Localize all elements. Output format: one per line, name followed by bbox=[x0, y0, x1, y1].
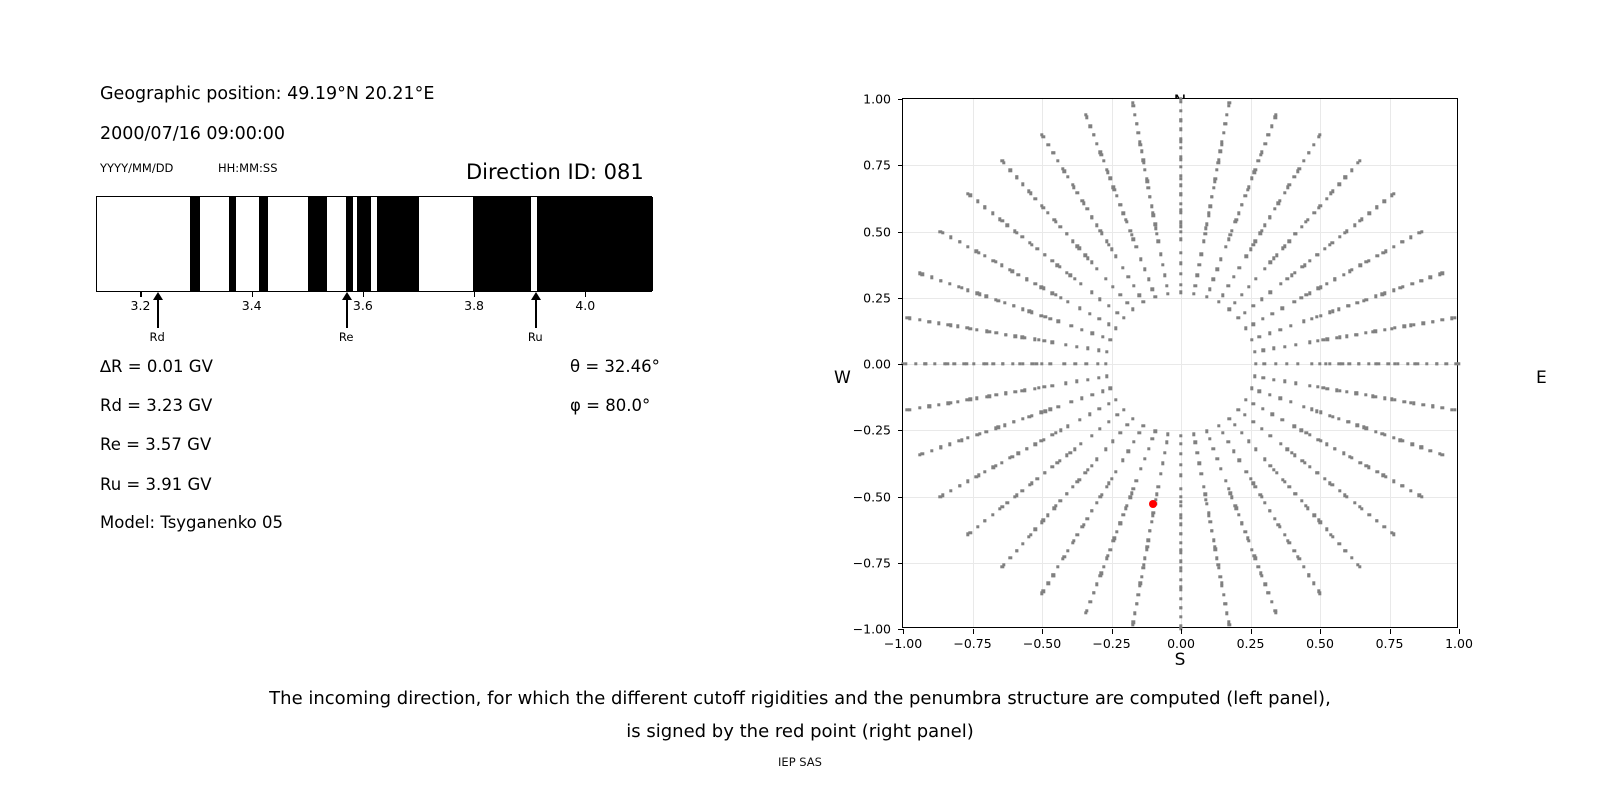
direction-point bbox=[1306, 506, 1309, 509]
direction-point bbox=[1333, 447, 1336, 450]
direction-point bbox=[1042, 438, 1045, 441]
direction-point bbox=[1013, 229, 1016, 232]
direction-point bbox=[948, 282, 951, 285]
direction-point bbox=[1302, 159, 1305, 162]
direction-point bbox=[1105, 557, 1108, 560]
direction-point bbox=[1308, 259, 1311, 262]
direction-point bbox=[1034, 442, 1037, 445]
direction-point bbox=[1104, 277, 1107, 280]
direction-point bbox=[1069, 451, 1072, 454]
direction-point bbox=[1268, 393, 1271, 396]
penumbra-tick-label: 3.6 bbox=[353, 298, 373, 313]
direction-point bbox=[1247, 285, 1250, 288]
direction-point bbox=[1263, 458, 1266, 461]
direction-point bbox=[1143, 268, 1146, 271]
direction-point bbox=[1350, 268, 1353, 271]
direction-point bbox=[1202, 485, 1205, 488]
arrow-shaft bbox=[157, 298, 158, 328]
direction-point bbox=[1345, 229, 1348, 232]
direction-point bbox=[1401, 484, 1404, 487]
direction-point bbox=[1350, 168, 1353, 171]
selected-direction-marker[interactable] bbox=[1149, 500, 1157, 508]
caption-line-1: The incoming direction, for which the di… bbox=[0, 682, 1600, 715]
direction-point bbox=[1015, 176, 1018, 179]
direction-point bbox=[962, 362, 965, 365]
direction-point bbox=[1331, 535, 1334, 538]
direction-point bbox=[1081, 525, 1084, 528]
x-axis-tick bbox=[1320, 629, 1321, 634]
direction-point bbox=[1376, 470, 1379, 473]
direction-point bbox=[1179, 452, 1182, 455]
direction-point bbox=[1179, 532, 1182, 535]
direction-point bbox=[1179, 193, 1182, 196]
direction-point bbox=[1066, 300, 1069, 303]
direction-point bbox=[1179, 569, 1182, 572]
direction-point bbox=[1273, 517, 1276, 520]
direction-point bbox=[1237, 212, 1240, 215]
direction-point bbox=[1317, 438, 1320, 441]
direction-point bbox=[1179, 146, 1182, 149]
direction-point bbox=[1058, 459, 1061, 462]
direction-point bbox=[985, 395, 988, 398]
direction-point bbox=[1261, 376, 1264, 379]
param-delta-r: ∆R = 0.01 GV bbox=[100, 357, 213, 376]
direction-point bbox=[1088, 600, 1091, 603]
direction-point bbox=[1014, 334, 1017, 337]
direction-point bbox=[1279, 442, 1282, 445]
direction-point bbox=[1383, 328, 1386, 331]
direction-point bbox=[1042, 385, 1045, 388]
direction-point bbox=[1326, 387, 1329, 390]
penumbra-tick bbox=[140, 292, 141, 297]
direction-point bbox=[1086, 347, 1089, 350]
direction-point bbox=[1147, 538, 1150, 541]
direction-point bbox=[1227, 621, 1230, 624]
direction-point bbox=[1268, 331, 1271, 334]
penumbra-tick bbox=[585, 292, 586, 297]
direction-point bbox=[1252, 323, 1255, 326]
direction-point bbox=[1042, 135, 1045, 138]
direction-point bbox=[1368, 513, 1371, 516]
direction-point bbox=[1224, 245, 1227, 248]
direction-point bbox=[924, 362, 927, 365]
direction-point bbox=[1049, 408, 1052, 411]
direction-point bbox=[1135, 245, 1138, 248]
direction-point bbox=[1133, 612, 1136, 615]
param-ru: Ru = 3.91 GV bbox=[100, 475, 212, 494]
direction-point bbox=[1392, 288, 1395, 291]
direction-point bbox=[1328, 362, 1331, 365]
direction-point bbox=[1384, 250, 1387, 253]
direction-point bbox=[966, 480, 969, 483]
direction-point bbox=[1179, 262, 1182, 265]
direction-point bbox=[1179, 606, 1182, 609]
direction-point bbox=[1232, 450, 1235, 453]
direction-point bbox=[1346, 420, 1349, 423]
direction-point bbox=[1126, 423, 1129, 426]
direction-point bbox=[1002, 563, 1005, 566]
direction-point bbox=[1157, 485, 1160, 488]
direction-point bbox=[1356, 301, 1359, 304]
direction-point bbox=[994, 298, 997, 301]
direction-point bbox=[1132, 440, 1135, 443]
direction-point bbox=[1046, 211, 1049, 214]
direction-point bbox=[1085, 609, 1088, 612]
y-axis-tick-label: −1.00 bbox=[853, 622, 891, 637]
direction-point bbox=[1431, 405, 1434, 408]
direction-point bbox=[1418, 231, 1421, 234]
direction-point bbox=[1051, 341, 1054, 344]
direction-point bbox=[1275, 254, 1278, 257]
x-axis-tick-label: −1.00 bbox=[884, 636, 922, 651]
direction-point bbox=[1008, 456, 1011, 459]
direction-point bbox=[957, 285, 960, 288]
figure-caption: The incoming direction, for which the di… bbox=[0, 682, 1600, 748]
direction-point bbox=[1090, 215, 1093, 218]
direction-point bbox=[1070, 324, 1073, 327]
direction-point bbox=[1338, 489, 1341, 492]
direction-point bbox=[1410, 282, 1413, 285]
direction-point bbox=[1004, 333, 1007, 336]
direction-point bbox=[1374, 295, 1377, 298]
direction-point bbox=[1102, 159, 1105, 162]
direction-point bbox=[1054, 293, 1057, 296]
direction-point bbox=[930, 276, 933, 279]
direction-point bbox=[1219, 467, 1222, 470]
direction-point bbox=[1441, 318, 1444, 321]
direction-point bbox=[1179, 578, 1182, 581]
direction-point bbox=[1269, 291, 1272, 294]
direction-point bbox=[1179, 495, 1182, 498]
direction-point bbox=[1279, 397, 1282, 400]
direction-point bbox=[1402, 400, 1405, 403]
direction-point bbox=[1215, 557, 1218, 560]
direction-point bbox=[1337, 417, 1340, 420]
direction-point bbox=[1285, 362, 1288, 365]
direction-point bbox=[1315, 409, 1318, 412]
direction-point bbox=[1293, 453, 1296, 456]
direction-point bbox=[1224, 122, 1227, 125]
y-axis-tick bbox=[898, 430, 903, 431]
direction-point bbox=[1247, 185, 1250, 188]
direction-point bbox=[1355, 333, 1358, 336]
direction-point bbox=[1390, 194, 1393, 197]
direction-point bbox=[1338, 362, 1341, 365]
direction-point bbox=[1075, 380, 1078, 383]
direction-point bbox=[1263, 223, 1266, 226]
direction-point bbox=[1269, 434, 1272, 437]
direction-point bbox=[966, 245, 969, 248]
direction-point bbox=[1061, 557, 1064, 560]
penumbra-band bbox=[190, 197, 200, 291]
direction-point bbox=[992, 259, 995, 262]
direction-point bbox=[1073, 277, 1076, 280]
direction-point bbox=[1279, 282, 1282, 285]
direction-point bbox=[1107, 323, 1110, 326]
direction-point bbox=[1208, 437, 1211, 440]
direction-point bbox=[1104, 448, 1107, 451]
direction-point bbox=[1326, 338, 1329, 341]
direction-point bbox=[994, 427, 997, 430]
direction-point bbox=[1375, 206, 1378, 209]
direction-point bbox=[1128, 229, 1131, 232]
direction-point bbox=[1050, 259, 1053, 262]
direction-point bbox=[1112, 539, 1115, 542]
direction-point bbox=[1233, 301, 1236, 304]
direction-point bbox=[1355, 392, 1358, 395]
direction-point bbox=[1133, 113, 1136, 116]
direction-point bbox=[1215, 168, 1218, 171]
direction-point bbox=[1179, 156, 1182, 159]
direction-point bbox=[1108, 548, 1111, 551]
direction-point bbox=[1112, 185, 1115, 188]
y-axis-tick-label: 1.00 bbox=[863, 92, 891, 107]
direction-point bbox=[1105, 350, 1108, 353]
direction-point bbox=[1071, 239, 1074, 242]
direction-point bbox=[1021, 235, 1024, 238]
direction-point bbox=[991, 513, 994, 516]
direction-point bbox=[1031, 362, 1034, 365]
direction-point bbox=[1202, 240, 1205, 243]
direction-point bbox=[1310, 408, 1313, 411]
direction-point bbox=[1214, 548, 1217, 551]
direction-point bbox=[1310, 317, 1313, 320]
y-axis-tick-label: 0.50 bbox=[863, 224, 891, 239]
direction-point bbox=[1179, 137, 1182, 140]
direction-point bbox=[1100, 493, 1103, 496]
direction-point bbox=[1095, 142, 1098, 145]
direction-point bbox=[1360, 218, 1363, 221]
direction-point bbox=[1078, 307, 1081, 310]
direction-point bbox=[1315, 315, 1318, 318]
direction-point bbox=[982, 362, 985, 365]
direction-point bbox=[1228, 307, 1231, 310]
direction-point bbox=[1034, 197, 1037, 200]
y-axis-tick bbox=[898, 298, 903, 299]
direction-point bbox=[1179, 474, 1182, 477]
direction-point bbox=[1161, 461, 1164, 464]
time-format-hint: HH:MM:SS bbox=[218, 161, 278, 175]
direction-point bbox=[1059, 225, 1062, 228]
direction-point bbox=[1179, 251, 1182, 254]
direction-point bbox=[1307, 573, 1310, 576]
direction-point bbox=[1085, 362, 1088, 365]
direction-point bbox=[1011, 362, 1014, 365]
penumbra-tick-label: 3.2 bbox=[131, 298, 151, 313]
sky-direction-map: N S W E 1.000.750.500.250.00−0.25−0.50−0… bbox=[820, 40, 1560, 660]
direction-point bbox=[1281, 478, 1284, 481]
direction-point bbox=[1023, 336, 1026, 339]
direction-point bbox=[1147, 447, 1150, 450]
direction-point bbox=[1145, 177, 1148, 180]
direction-point bbox=[1165, 284, 1168, 287]
direction-point bbox=[1328, 311, 1331, 314]
direction-point bbox=[1077, 247, 1080, 250]
direction-point bbox=[1179, 504, 1182, 507]
direction-point bbox=[1323, 247, 1326, 250]
direction-point bbox=[1312, 143, 1315, 146]
direction-point bbox=[1085, 116, 1088, 119]
direction-point bbox=[1028, 241, 1031, 244]
direction-point bbox=[1267, 133, 1270, 136]
direction-point bbox=[1221, 431, 1224, 434]
direction-point bbox=[1056, 565, 1059, 568]
direction-point bbox=[968, 531, 971, 534]
direction-point bbox=[1090, 291, 1093, 294]
penumbra-tick-label: 3.4 bbox=[242, 298, 262, 313]
direction-point bbox=[1317, 135, 1320, 138]
penumbra-band bbox=[308, 197, 327, 291]
direction-point bbox=[1316, 471, 1319, 474]
direction-point bbox=[1438, 273, 1441, 276]
direction-point bbox=[1225, 612, 1228, 615]
direction-point bbox=[1258, 335, 1261, 338]
direction-point bbox=[1210, 195, 1213, 198]
penumbra-marker-label: Re bbox=[339, 330, 354, 344]
direction-point bbox=[1203, 232, 1206, 235]
direction-point bbox=[1179, 463, 1182, 466]
direction-point bbox=[1012, 304, 1015, 307]
direction-point bbox=[949, 236, 952, 239]
direction-point bbox=[921, 273, 924, 276]
direction-point bbox=[976, 525, 979, 528]
direction-point bbox=[1065, 271, 1068, 274]
direction-point bbox=[1107, 243, 1110, 246]
direction-point bbox=[1205, 502, 1208, 505]
y-axis-tick-label: 0.75 bbox=[863, 158, 891, 173]
direction-point bbox=[1126, 275, 1129, 278]
direction-point bbox=[1435, 362, 1438, 365]
direction-point bbox=[1364, 331, 1367, 334]
direction-point bbox=[1383, 292, 1386, 295]
param-phi: φ = 80.0° bbox=[570, 396, 650, 415]
direction-point bbox=[1080, 328, 1083, 331]
direction-point bbox=[949, 489, 952, 492]
direction-point bbox=[1132, 238, 1135, 241]
direction-point bbox=[1272, 347, 1275, 350]
y-axis-tick-label: 0.00 bbox=[863, 357, 891, 372]
direction-point bbox=[1292, 425, 1295, 428]
direction-point bbox=[1115, 194, 1118, 197]
direction-point bbox=[1033, 387, 1036, 390]
direction-point bbox=[1043, 253, 1046, 256]
direction-point bbox=[1367, 466, 1370, 469]
direction-point bbox=[1140, 150, 1143, 153]
direction-point bbox=[1337, 542, 1340, 545]
direction-point bbox=[1292, 300, 1295, 303]
direction-point bbox=[1289, 400, 1292, 403]
direction-point bbox=[1273, 609, 1276, 612]
direction-point bbox=[1260, 298, 1263, 301]
direction-point bbox=[1259, 231, 1262, 234]
direction-point bbox=[1194, 441, 1197, 444]
direction-point bbox=[1205, 223, 1208, 226]
direction-point bbox=[1196, 451, 1199, 454]
datetime-text: 2000/07/16 09:00:00 bbox=[100, 124, 285, 144]
direction-point bbox=[1138, 140, 1141, 143]
direction-point bbox=[1322, 338, 1325, 341]
direction-point bbox=[1200, 472, 1203, 475]
direction-point bbox=[941, 493, 944, 496]
direction-point bbox=[1074, 362, 1077, 365]
direction-point bbox=[1115, 413, 1118, 416]
direction-point bbox=[1097, 317, 1100, 320]
direction-point bbox=[1143, 457, 1146, 460]
direction-point bbox=[1375, 519, 1378, 522]
direction-point bbox=[1107, 402, 1110, 405]
direction-point bbox=[1346, 304, 1349, 307]
direction-point bbox=[1412, 401, 1415, 404]
direction-point bbox=[1342, 273, 1345, 276]
direction-point bbox=[1059, 499, 1062, 502]
direction-point bbox=[1098, 574, 1101, 577]
direction-point bbox=[1335, 336, 1338, 339]
direction-point bbox=[1422, 322, 1425, 325]
direction-point bbox=[1139, 467, 1142, 470]
direction-point bbox=[1263, 583, 1266, 586]
direction-point bbox=[1088, 124, 1091, 127]
direction-point bbox=[1122, 316, 1125, 319]
scatter-plot-area: 1.000.750.500.250.00−0.25−0.50−0.75−1.00… bbox=[902, 98, 1458, 628]
direction-point bbox=[1253, 350, 1256, 353]
direction-point bbox=[1179, 272, 1182, 275]
direction-point bbox=[1085, 517, 1088, 520]
direction-point bbox=[1119, 293, 1122, 296]
direction-point bbox=[1100, 231, 1103, 234]
direction-point bbox=[1030, 414, 1033, 417]
direction-point bbox=[1033, 338, 1036, 341]
direction-point bbox=[1037, 386, 1040, 389]
direction-point bbox=[1105, 485, 1108, 488]
direction-point bbox=[1278, 199, 1281, 202]
direction-point bbox=[1079, 282, 1082, 285]
direction-point bbox=[1221, 293, 1224, 296]
direction-point bbox=[1119, 431, 1122, 434]
direction-point bbox=[1196, 274, 1199, 277]
direction-point bbox=[1450, 408, 1453, 411]
penumbra-marker-label: Ru bbox=[528, 330, 543, 344]
direction-point bbox=[1260, 427, 1263, 430]
direction-point bbox=[1090, 261, 1093, 264]
direction-point bbox=[1254, 277, 1257, 280]
direction-point bbox=[1114, 254, 1117, 257]
direction-point bbox=[1297, 167, 1300, 170]
direction-point bbox=[1337, 183, 1340, 186]
direction-point bbox=[927, 320, 930, 323]
direction-point bbox=[1028, 483, 1031, 486]
direction-point bbox=[1312, 581, 1315, 584]
direction-point bbox=[1114, 327, 1117, 330]
direction-point bbox=[1130, 233, 1133, 236]
direction-point bbox=[1137, 593, 1140, 596]
direction-point bbox=[1105, 375, 1108, 378]
direction-point bbox=[1342, 452, 1345, 455]
direction-point bbox=[1219, 258, 1222, 261]
direction-point bbox=[1009, 168, 1012, 171]
direction-point bbox=[1272, 257, 1275, 260]
direction-point bbox=[1143, 557, 1146, 560]
direction-point bbox=[1179, 224, 1182, 227]
direction-point bbox=[1310, 362, 1313, 365]
direction-point bbox=[1151, 437, 1154, 440]
direction-point bbox=[1050, 465, 1053, 468]
direction-point bbox=[1050, 433, 1053, 436]
direction-point bbox=[1198, 461, 1201, 464]
direction-point bbox=[1383, 200, 1386, 203]
direction-point bbox=[1049, 317, 1052, 320]
direction-point bbox=[1243, 530, 1246, 533]
direction-point bbox=[1076, 533, 1079, 536]
